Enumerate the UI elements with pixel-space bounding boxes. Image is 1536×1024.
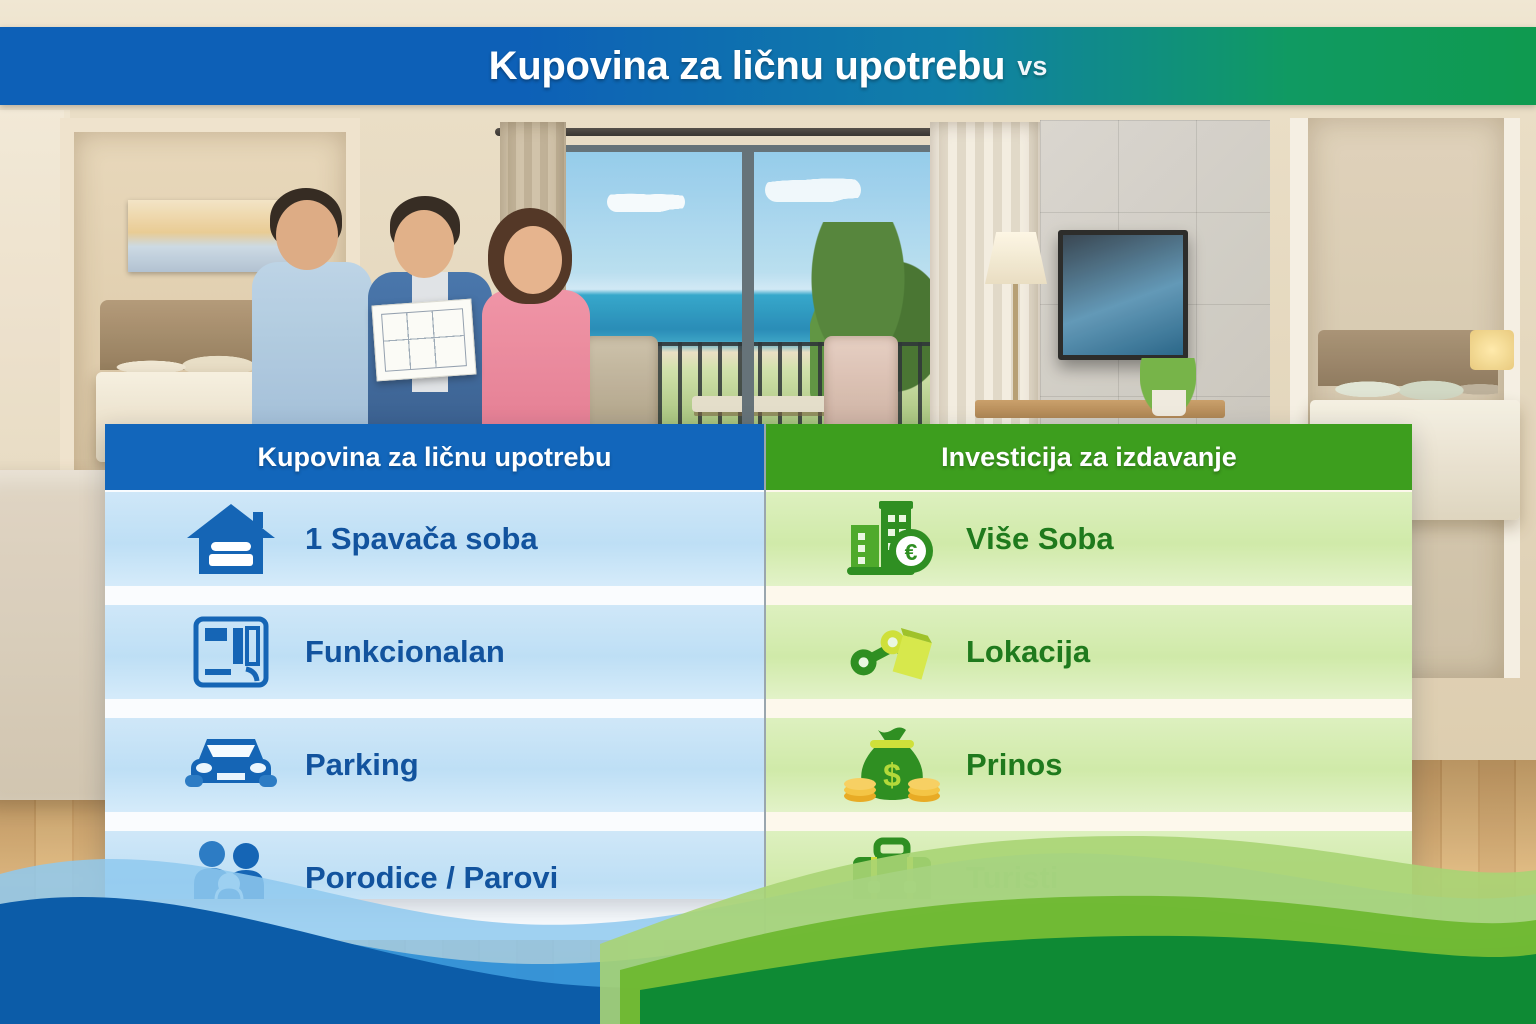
table-row[interactable]: 1 Spavača soba <box>105 492 764 586</box>
table-row[interactable]: Funkcionalan <box>105 605 764 699</box>
keys-icon <box>844 615 940 689</box>
table-row[interactable]: $ Prinos <box>766 718 1412 812</box>
row-label: Porodice / Parovi <box>305 860 558 896</box>
floor-plan-icon <box>183 615 279 689</box>
column-personal-use: Kupovina za ličnu upotrebu 1 Spavača sob… <box>105 424 764 899</box>
column-header-label: Kupovina za ličnu upotrebu <box>257 442 611 473</box>
table-row[interactable]: Turisti <box>766 831 1412 899</box>
row-label: Parking <box>305 747 419 783</box>
row-label: Turisti <box>966 860 1058 896</box>
row-gap <box>766 812 1412 831</box>
column-header-personal-use: Kupovina za ličnu upotrebu <box>105 424 764 490</box>
svg-text:$: $ <box>883 757 901 793</box>
family-icon <box>183 841 279 899</box>
car-icon <box>183 728 279 802</box>
column-header-rental-investment: Investicija za izdavanje <box>766 424 1412 490</box>
row-gap <box>766 699 1412 718</box>
money-bag-coins-icon: $ <box>844 728 940 802</box>
page-title: Kupovina za ličnu upotrebu <box>489 44 1006 89</box>
row-gap <box>105 699 764 718</box>
table-row[interactable]: € Više Soba <box>766 492 1412 586</box>
buildings-euro-icon: € <box>844 502 940 576</box>
svg-text:€: € <box>905 539 918 565</box>
rows-rental-investment: € Više Soba <box>766 490 1412 899</box>
row-label: Više Soba <box>966 521 1114 557</box>
row-label: Funkcionalan <box>305 634 505 670</box>
rows-personal-use: 1 Spavača soba Funkciona <box>105 490 764 899</box>
vs-label: vs <box>1017 51 1047 82</box>
row-gap <box>105 812 764 831</box>
comparison-table: Kupovina za ličnu upotrebu 1 Spavača sob… <box>105 424 1412 899</box>
infographic-canvas: Kupovina za ličnu upotrebu vs Kupovina z… <box>0 0 1536 1024</box>
table-row[interactable]: Lokacija <box>766 605 1412 699</box>
house-bed-icon <box>183 502 279 576</box>
column-header-label: Investicija za izdavanje <box>941 442 1237 473</box>
row-label: Prinos <box>966 747 1062 783</box>
row-gap <box>766 586 1412 605</box>
row-label: Lokacija <box>966 634 1090 670</box>
suitcase-icon <box>844 841 940 899</box>
column-rental-investment: Investicija za izdavanje <box>764 424 1412 899</box>
title-banner: Kupovina za ličnu upotrebu vs <box>0 27 1536 105</box>
table-row[interactable]: Parking <box>105 718 764 812</box>
row-gap <box>105 586 764 605</box>
table-row[interactable]: Porodice / Parovi <box>105 831 764 899</box>
row-label: 1 Spavača soba <box>305 521 538 557</box>
